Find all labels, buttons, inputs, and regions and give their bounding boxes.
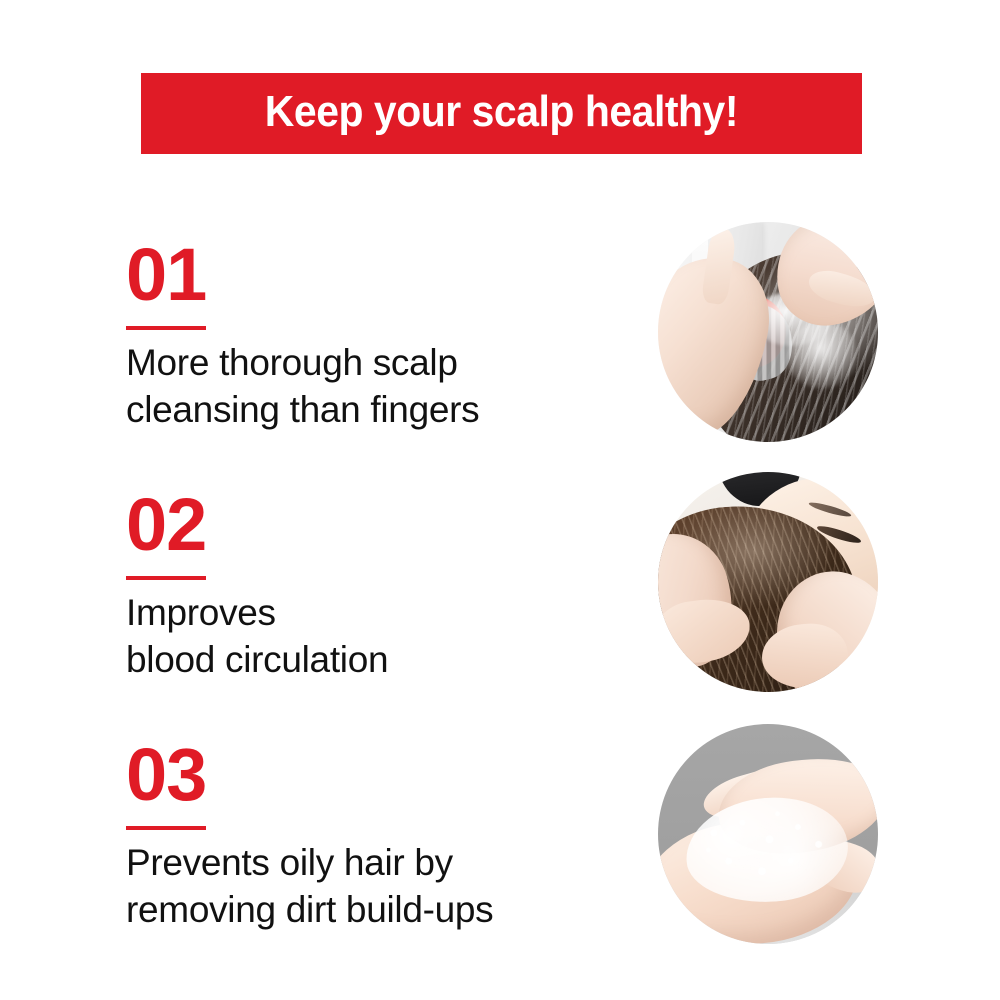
header-banner: Keep your scalp healthy! [141,73,862,154]
benefit-divider [126,826,206,830]
page-title: Keep your scalp healthy! [265,90,738,137]
benefit-text-block: 01 More thorough scalp cleansing than fi… [126,246,596,434]
benefit-description: Improves blood circulation [126,590,596,684]
foam-in-hands-photo [658,724,878,944]
benefit-description: More thorough scalp cleansing than finge… [126,340,596,434]
benefit-description-line-1: More thorough scalp [126,340,596,387]
benefit-description-line-2: removing dirt build-ups [126,887,596,934]
benefit-divider [126,576,206,580]
benefit-description-line-1: Prevents oily hair by [126,840,596,887]
benefit-description-line-2: blood circulation [126,637,596,684]
benefit-row: 01 More thorough scalp cleansing than fi… [0,206,1000,456]
benefit-row: 02 Improves blood circulation [0,456,1000,706]
benefit-description-line-2: cleansing than fingers [126,387,596,434]
benefit-description-line-1: Improves [126,590,596,637]
scalp-massage-photo [658,472,878,692]
benefit-number: 01 [126,246,596,304]
benefit-text-block: 03 Prevents oily hair by removing dirt b… [126,746,596,934]
scalp-brush-shampooing-photo [658,222,878,442]
benefit-number: 02 [126,496,596,554]
promo-poster: Keep your scalp healthy! 01 More thoroug… [0,0,1000,1000]
benefit-description: Prevents oily hair by removing dirt buil… [126,840,596,934]
benefit-number: 03 [126,746,596,804]
benefit-row: 03 Prevents oily hair by removing dirt b… [0,706,1000,956]
benefit-divider [126,326,206,330]
benefit-text-block: 02 Improves blood circulation [126,496,596,684]
